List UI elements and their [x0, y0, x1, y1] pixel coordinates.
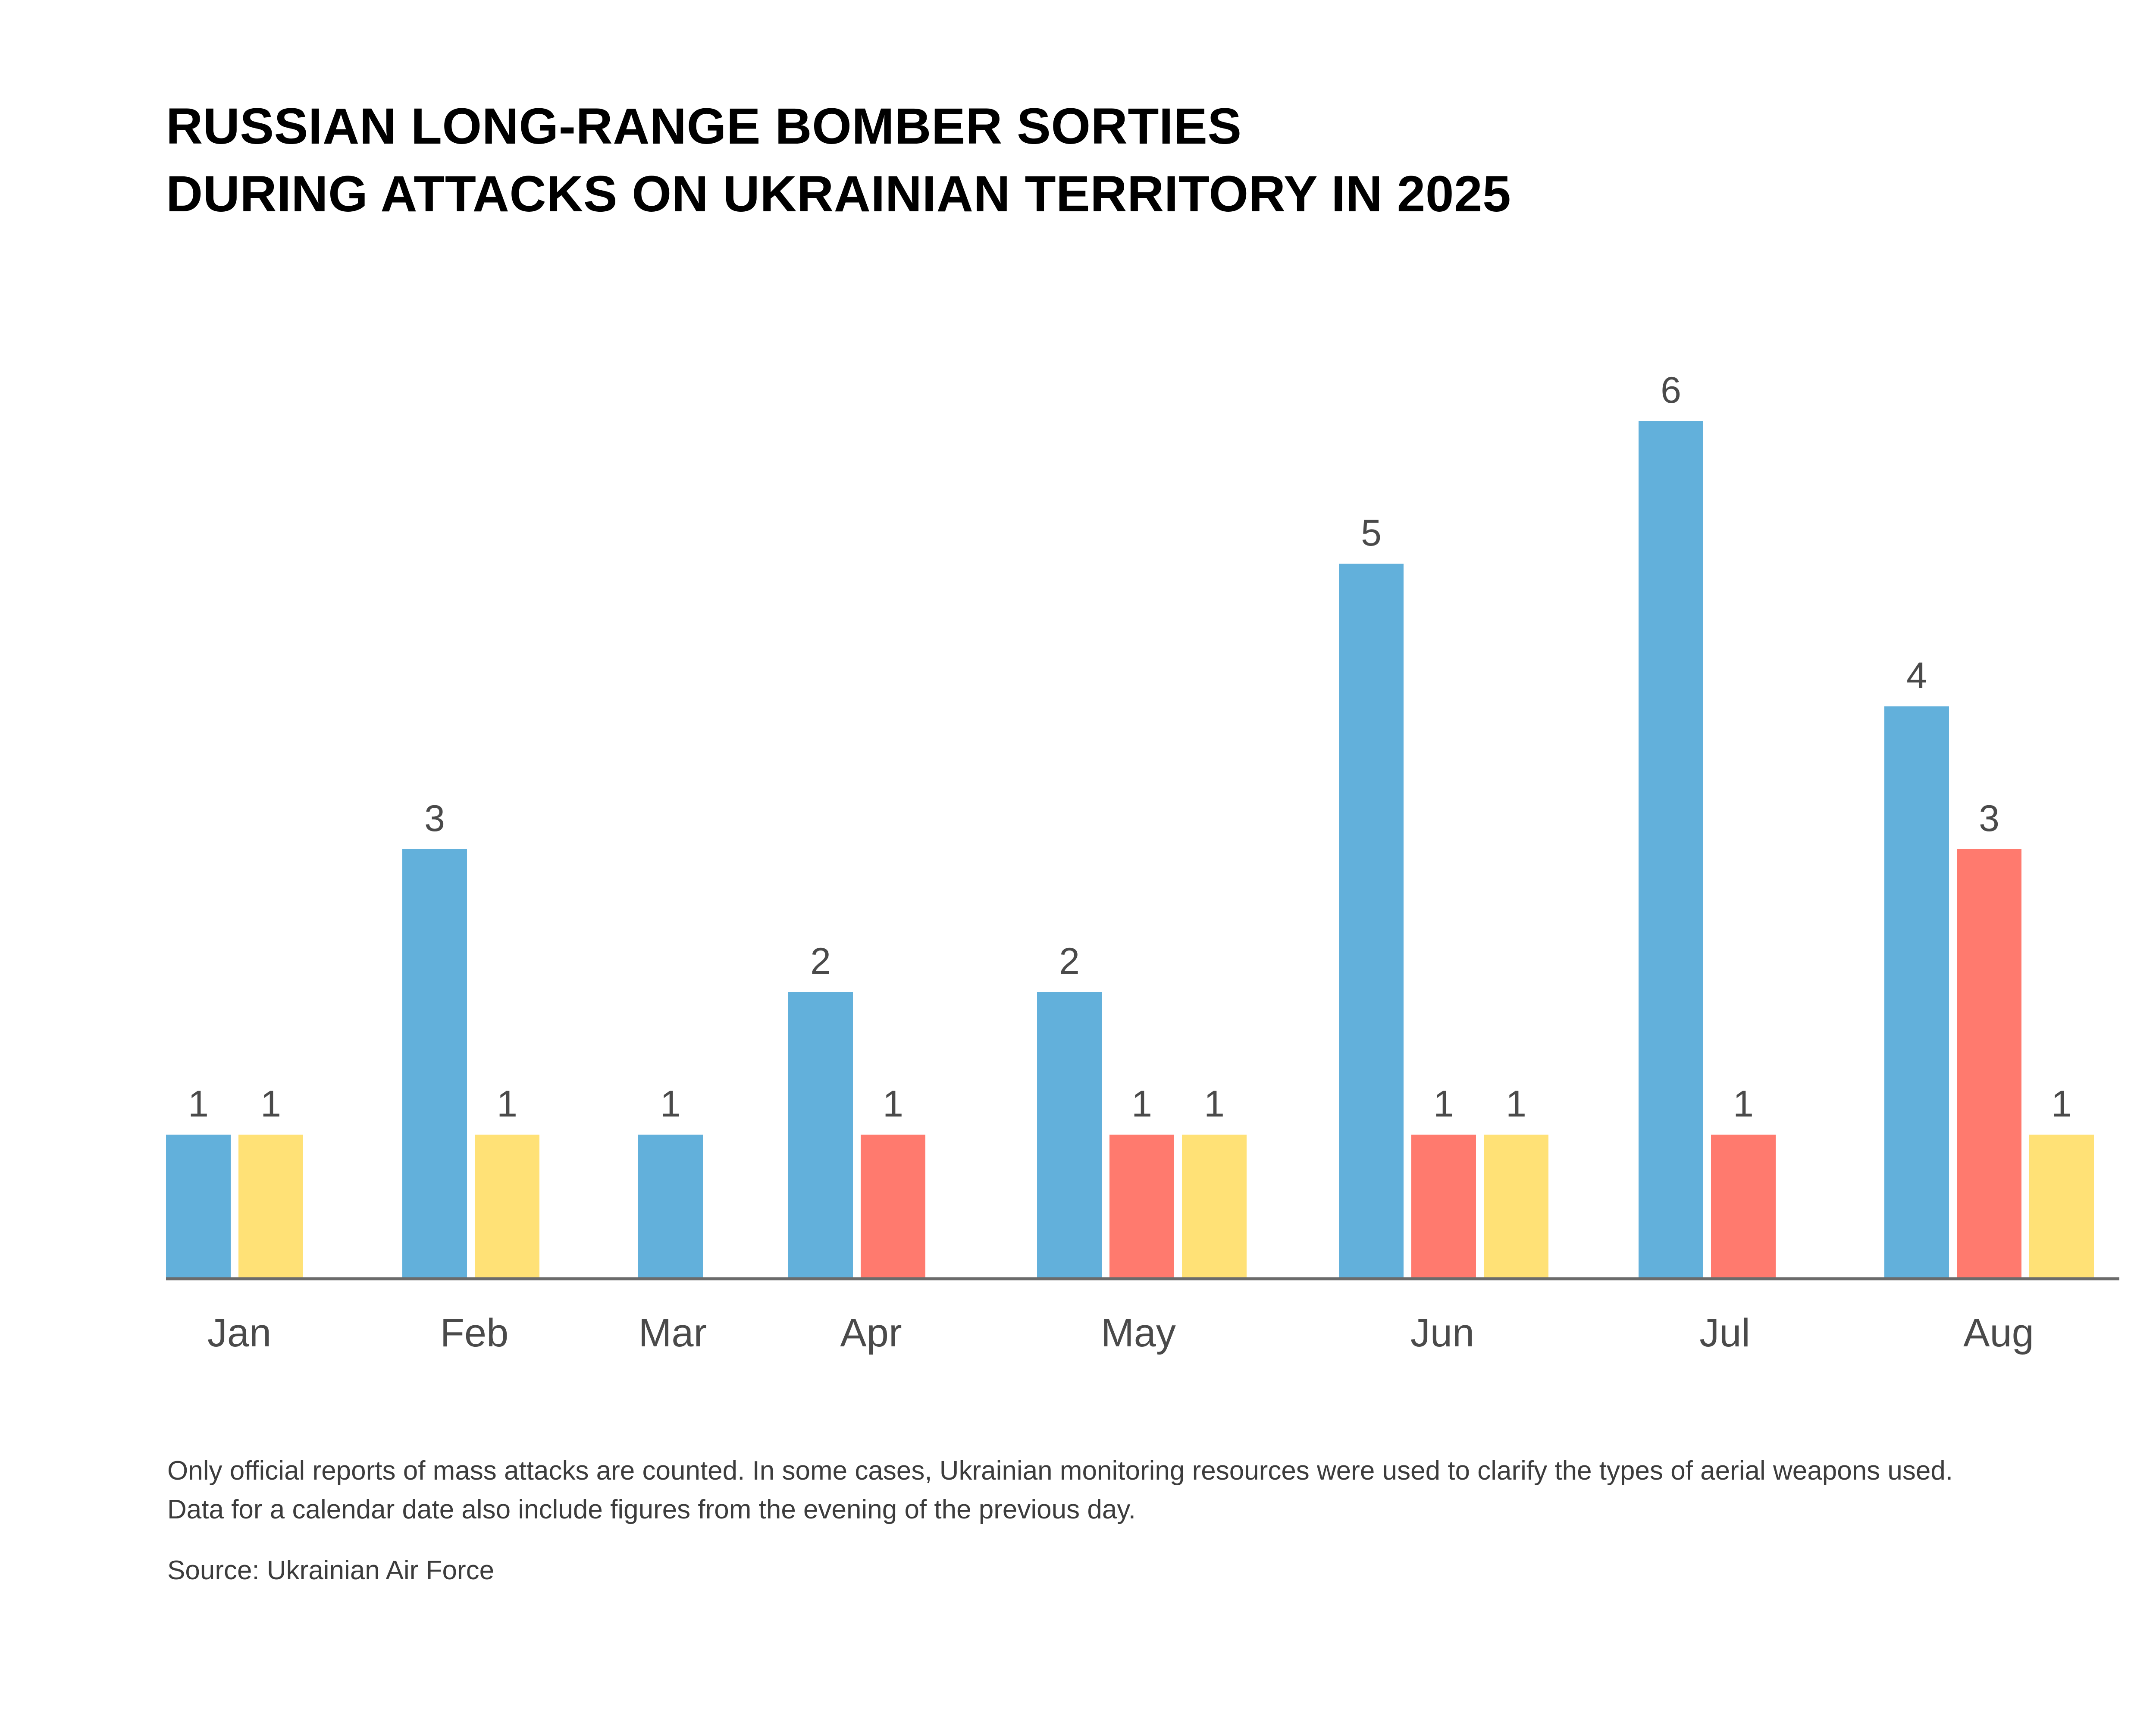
bar-rect — [1484, 1135, 1548, 1277]
bar-rect — [166, 1135, 231, 1277]
x-axis-label-jan: Jan — [207, 1313, 271, 1353]
x-axis-label-may: May — [1101, 1313, 1176, 1353]
bar-mar-tu-95ms[interactable]: 1 — [638, 1135, 703, 1277]
bar-jun-tu-160[interactable]: 1 — [1411, 1135, 1476, 1277]
bar-aug-tu-160[interactable]: 3 — [1957, 849, 2021, 1277]
bar-value-label: 1 — [1204, 1085, 1225, 1123]
footnote-source: Source: Ukrainian Air Force — [167, 1553, 2134, 1588]
bar-jun-tu-22m3[interactable]: 1 — [1484, 1135, 1548, 1277]
bar-rect — [1639, 421, 1703, 1277]
bar-jul-tu-160[interactable]: 1 — [1711, 1135, 1776, 1277]
x-axis-label-apr: Apr — [840, 1313, 902, 1353]
bar-rect — [1109, 1135, 1174, 1277]
bar-jul-tu-95ms[interactable]: 6 — [1639, 421, 1703, 1277]
bar-group-feb: 31 — [402, 415, 539, 1277]
bar-may-tu-160[interactable]: 1 — [1109, 1135, 1174, 1277]
bar-value-label: 4 — [1906, 657, 1927, 694]
bar-aug-tu-22m3[interactable]: 1 — [2029, 1135, 2094, 1277]
bar-value-label: 1 — [2051, 1085, 2072, 1123]
bar-value-label: 1 — [260, 1085, 281, 1123]
x-axis-label-feb: Feb — [440, 1313, 509, 1353]
bar-value-label: 1 — [1733, 1085, 1754, 1123]
bar-jun-tu-95ms[interactable]: 5 — [1339, 564, 1404, 1277]
bar-rect — [788, 992, 853, 1277]
bar-group-jun: 511 — [1339, 415, 1548, 1277]
bar-rect — [1884, 706, 1949, 1277]
x-axis-line — [166, 1277, 2119, 1280]
bar-value-label: 1 — [1433, 1085, 1454, 1123]
bar-may-tu-95ms[interactable]: 2 — [1037, 992, 1102, 1277]
bar-rect — [638, 1135, 703, 1277]
bar-rect — [1339, 564, 1404, 1277]
bar-aug-tu-95ms[interactable]: 4 — [1884, 706, 1949, 1277]
bar-may-tu-22m3[interactable]: 1 — [1182, 1135, 1247, 1277]
bar-group-apr: 21 — [788, 415, 925, 1277]
x-axis-label-jul: Jul — [1699, 1313, 1750, 1353]
bar-value-label: 3 — [424, 800, 445, 837]
bar-rect — [1411, 1135, 1476, 1277]
bar-apr-tu-95ms[interactable]: 2 — [788, 992, 853, 1277]
bar-rect — [402, 849, 467, 1277]
x-axis-label-jun: Jun — [1410, 1313, 1474, 1353]
bar-group-may: 211 — [1037, 415, 1247, 1277]
bar-value-label: 6 — [1661, 372, 1681, 409]
bar-rect — [1957, 849, 2021, 1277]
bar-value-label: 2 — [810, 943, 831, 980]
x-axis-label-aug: Aug — [1963, 1313, 2034, 1353]
bar-value-label: 1 — [660, 1085, 681, 1123]
bar-jan-tu-95ms[interactable]: 1 — [166, 1135, 231, 1277]
bar-rect — [861, 1135, 925, 1277]
bar-rect — [475, 1135, 539, 1277]
bar-value-label: 1 — [883, 1085, 903, 1123]
bar-group-jul: 61 — [1639, 415, 1776, 1277]
bar-jan-tu-22m3[interactable]: 1 — [238, 1135, 303, 1277]
bar-rect — [1037, 992, 1102, 1277]
bar-group-jan: 11 — [166, 415, 303, 1277]
x-axis-label-mar: Mar — [639, 1313, 707, 1353]
bar-value-label: 1 — [1506, 1085, 1526, 1123]
bar-value-label: 5 — [1361, 514, 1382, 552]
footnote-methodology: Only official reports of mass attacks ar… — [167, 1453, 2134, 1489]
bar-rect — [1182, 1135, 1247, 1277]
chart-footnotes: Only official reports of mass attacks ar… — [167, 1453, 2134, 1588]
bar-value-label: 1 — [188, 1085, 209, 1123]
bar-group-aug: 431 — [1884, 415, 2094, 1277]
bar-value-label: 3 — [1979, 800, 1999, 837]
bar-feb-tu-95ms[interactable]: 3 — [402, 849, 467, 1277]
bar-rect — [1711, 1135, 1776, 1277]
bar-apr-tu-160[interactable]: 1 — [861, 1135, 925, 1277]
bar-rect — [2029, 1135, 2094, 1277]
bar-group-mar: 1 — [638, 415, 703, 1277]
bar-value-label: 1 — [497, 1085, 517, 1123]
footnote-data-window: Data for a calendar date also include fi… — [167, 1492, 2134, 1527]
bar-rect — [238, 1135, 303, 1277]
bar-feb-tu-22m3[interactable]: 1 — [475, 1135, 539, 1277]
bar-value-label: 2 — [1059, 943, 1080, 980]
bar-value-label: 1 — [1131, 1085, 1152, 1123]
